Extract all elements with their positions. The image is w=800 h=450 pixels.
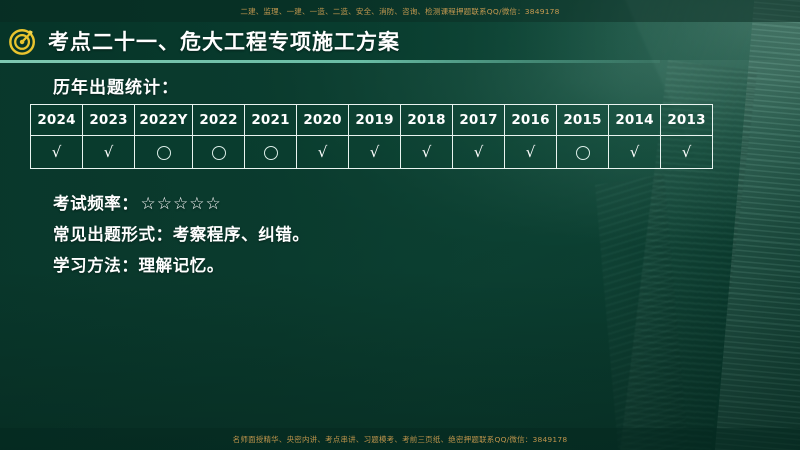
question-form-label: 常见出题形式： — [53, 225, 173, 244]
slide-content: 历年出题统计： 202420232022Y2022202120202019201… — [0, 0, 800, 450]
check-mark-icon: √ — [682, 145, 692, 160]
table-cell-year: 2022 — [193, 105, 245, 136]
table-cell-mark: √ — [609, 136, 661, 169]
table-cell-mark — [193, 136, 245, 169]
table-cell-mark: √ — [349, 136, 401, 169]
table-row-marks: √√√√√√√√√ — [31, 136, 713, 169]
slide-root: 二建、监理、一建、一造、二造、安全、消防、咨询、检测课程押题联系QQ/微信：38… — [0, 0, 800, 450]
slide-title-bar: 考点二十一、危大工程专项施工方案 — [0, 22, 800, 60]
check-mark-icon: √ — [318, 145, 328, 160]
exam-frequency-line: 考试频率：☆☆☆☆☆ — [53, 190, 222, 214]
table-cell-year: 2024 — [31, 105, 83, 136]
study-method-value: 理解记忆。 — [139, 256, 225, 275]
table-cell-mark: √ — [83, 136, 135, 169]
check-mark-icon: √ — [474, 145, 484, 160]
circle-mark-icon — [264, 146, 278, 160]
bottom-promo-banner: 名师面授精华、央密内讲、考点串讲、习题模考、考前三页纸、绝密押题联系QQ/微信：… — [0, 428, 800, 450]
circle-mark-icon — [157, 146, 171, 160]
check-mark-icon: √ — [370, 145, 380, 160]
table-cell-mark: √ — [453, 136, 505, 169]
stats-section-label: 历年出题统计： — [53, 73, 179, 98]
exam-frequency-label: 考试频率： — [53, 194, 139, 213]
check-mark-icon: √ — [104, 145, 114, 160]
table-cell-year: 2022Y — [135, 105, 193, 136]
exam-frequency-stars: ☆☆☆☆☆ — [141, 194, 222, 214]
study-method-label: 学习方法： — [53, 256, 139, 275]
question-form-value: 考察程序、纠错。 — [173, 225, 310, 244]
yearly-stats-table: 202420232022Y202220212020201920182017201… — [30, 104, 713, 169]
table-cell-mark — [557, 136, 609, 169]
table-row-years: 202420232022Y202220212020201920182017201… — [31, 105, 713, 136]
table-cell-year: 2015 — [557, 105, 609, 136]
table-cell-year: 2021 — [245, 105, 297, 136]
check-mark-icon: √ — [526, 145, 536, 160]
table-cell-mark: √ — [401, 136, 453, 169]
table-cell-year: 2013 — [661, 105, 713, 136]
title-underline-rule — [0, 60, 660, 63]
circle-mark-icon — [212, 146, 226, 160]
table-cell-year: 2019 — [349, 105, 401, 136]
table-cell-mark — [245, 136, 297, 169]
question-form-line: 常见出题形式：考察程序、纠错。 — [53, 221, 310, 245]
target-icon-svg — [8, 26, 38, 56]
bottom-promo-text: 名师面授精华、央密内讲、考点串讲、习题模考、考前三页纸、绝密押题联系QQ/微信：… — [233, 434, 568, 444]
table-cell-year: 2023 — [83, 105, 135, 136]
table-cell-mark: √ — [505, 136, 557, 169]
table-cell-year: 2014 — [609, 105, 661, 136]
target-icon — [8, 26, 38, 56]
table-cell-mark: √ — [297, 136, 349, 169]
check-mark-icon: √ — [52, 145, 62, 160]
check-mark-icon: √ — [422, 145, 432, 160]
table-cell-mark: √ — [661, 136, 713, 169]
check-mark-icon: √ — [630, 145, 640, 160]
table-cell-mark — [135, 136, 193, 169]
table-cell-year: 2018 — [401, 105, 453, 136]
circle-mark-icon — [576, 146, 590, 160]
table-cell-year: 2020 — [297, 105, 349, 136]
page-title: 考点二十一、危大工程专项施工方案 — [48, 26, 400, 56]
table-cell-year: 2016 — [505, 105, 557, 136]
table-cell-mark: √ — [31, 136, 83, 169]
top-promo-banner: 二建、监理、一建、一造、二造、安全、消防、咨询、检测课程押题联系QQ/微信：38… — [0, 0, 800, 22]
study-method-line: 学习方法：理解记忆。 — [53, 252, 224, 276]
table-cell-year: 2017 — [453, 105, 505, 136]
top-promo-text: 二建、监理、一建、一造、二造、安全、消防、咨询、检测课程押题联系QQ/微信：38… — [240, 6, 559, 16]
